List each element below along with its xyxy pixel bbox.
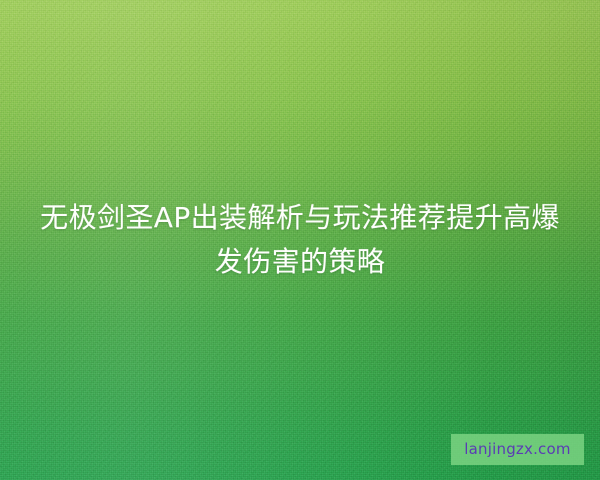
watermark-badge: lanjingzx.com <box>451 434 584 465</box>
watermark-label: lanjingzx.com <box>464 442 570 457</box>
page-title: 无极剑圣AP出装解析与玩法推荐提升高爆发伤害的策略 <box>34 196 566 284</box>
cover-image-canvas: 无极剑圣AP出装解析与玩法推荐提升高爆发伤害的策略 lanjingzx.com <box>0 0 600 480</box>
title-block: 无极剑圣AP出装解析与玩法推荐提升高爆发伤害的策略 <box>0 196 600 284</box>
